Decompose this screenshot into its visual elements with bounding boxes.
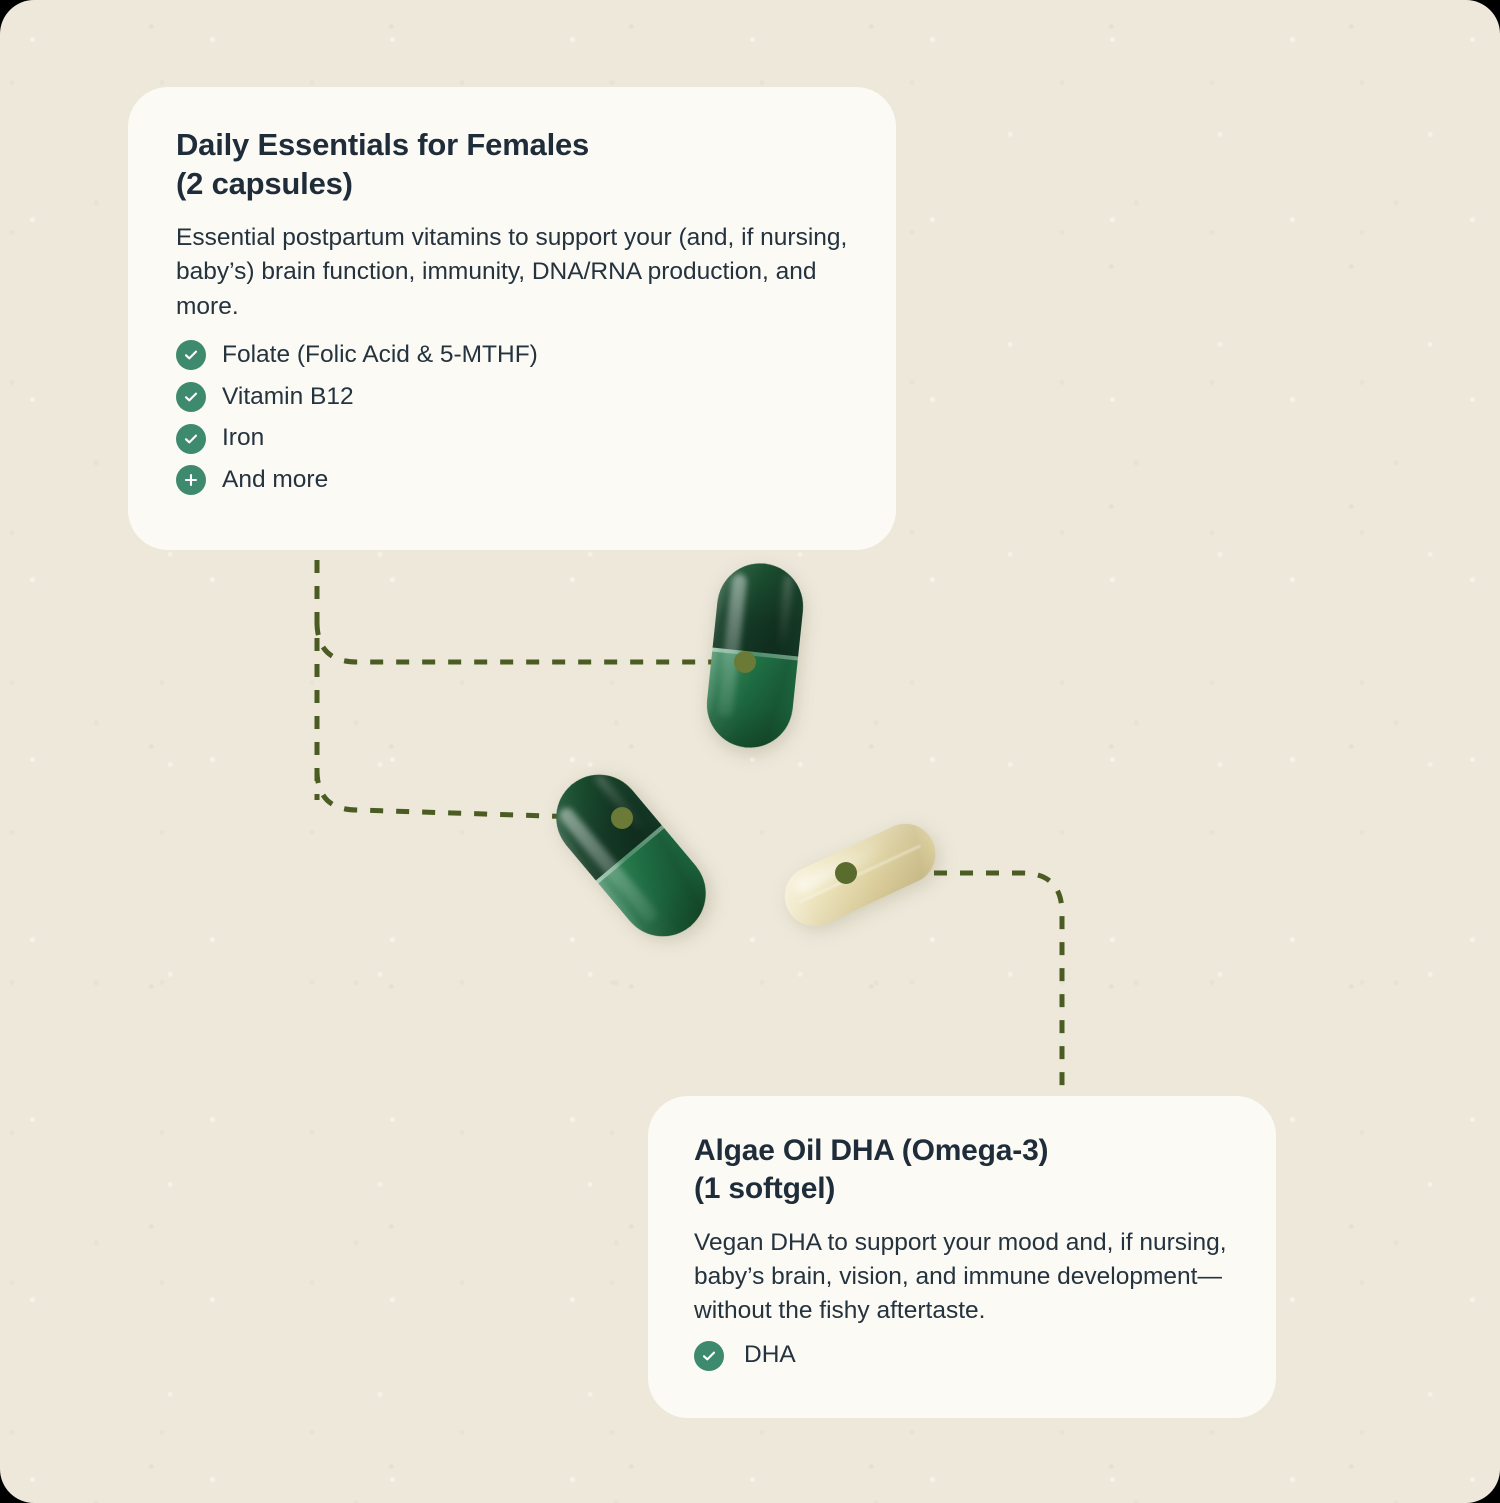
card-title-algae-oil-dha: Algae Oil DHA (Omega-3) (1 softgel) (694, 1132, 1230, 1208)
connector-to-dha-card (856, 873, 1062, 1096)
benefit-label: Vitamin B12 (222, 382, 354, 413)
green-capsule-lower (539, 757, 724, 954)
plus-icon (176, 465, 206, 495)
connector-dot-softgel (835, 862, 857, 884)
connector-to-lower-capsule (317, 770, 612, 818)
connector-dot-lower-capsule (611, 807, 633, 829)
green-capsule-upper (703, 559, 808, 752)
card-title-daily-essentials: Daily Essentials for Females (2 capsules… (176, 125, 848, 203)
card-daily-essentials: Daily Essentials for Females (2 capsules… (128, 87, 896, 550)
benefit-list-algae-oil-dha: DHA (694, 1340, 1230, 1371)
benefit-label: Folate (Folic Acid & 5-MTHF) (222, 340, 538, 371)
check-icon (176, 340, 206, 370)
benefit-label: Iron (222, 423, 264, 454)
card-description-daily-essentials: Essential postpartum vitamins to support… (176, 221, 848, 324)
product-breakdown-graphic: Daily Essentials for Females (2 capsules… (0, 0, 1500, 1503)
card-description-algae-oil-dha: Vegan DHA to support your mood and, if n… (694, 1226, 1230, 1329)
check-icon (176, 424, 206, 454)
list-item: Iron (176, 423, 848, 454)
list-item: And more (176, 465, 848, 496)
benefit-label: DHA (744, 1340, 796, 1371)
check-icon (176, 382, 206, 412)
list-item: Folate (Folic Acid & 5-MTHF) (176, 340, 848, 371)
list-item: DHA (694, 1340, 1230, 1371)
check-icon (694, 1341, 724, 1371)
card-algae-oil-dha: Algae Oil DHA (Omega-3) (1 softgel) Vega… (648, 1096, 1276, 1418)
benefit-list-daily-essentials: Folate (Folic Acid & 5-MTHF) Vitamin B12… (176, 340, 848, 496)
list-item: Vitamin B12 (176, 382, 848, 413)
yellow-softgel (775, 814, 945, 936)
benefit-label: And more (222, 465, 328, 496)
connector-dot-upper-capsule (734, 651, 756, 673)
connector-to-upper-capsule (317, 622, 735, 662)
